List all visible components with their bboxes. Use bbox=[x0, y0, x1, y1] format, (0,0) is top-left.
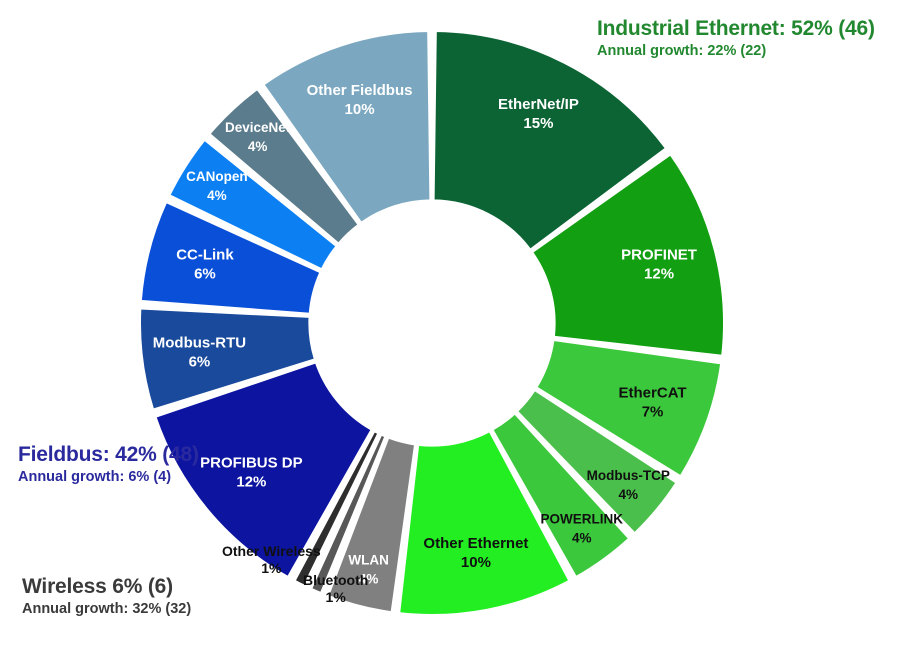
group-note-wireless: Wireless 6% (6) Annual growth: 32% (32) bbox=[22, 575, 191, 617]
group-growth-wireless: Annual growth: 32% (32) bbox=[22, 601, 191, 617]
group-note-fieldbus: Fieldbus: 42% (48) Annual growth: 6% (4) bbox=[18, 443, 199, 485]
group-growth-industrial-ethernet: Annual growth: 22% (22) bbox=[597, 43, 875, 59]
slice-value-other-wireless: 1% bbox=[261, 560, 281, 576]
donut-slices bbox=[140, 31, 724, 615]
slice-value-bluetooth: 1% bbox=[326, 589, 346, 605]
slice-label-bluetooth: Bluetooth 1% bbox=[303, 572, 368, 605]
donut-chart: EtherNet/IP15%PROFINET12%EtherCAT7%Modbu… bbox=[0, 0, 900, 650]
group-title-industrial-ethernet: Industrial Ethernet: 52% (46) bbox=[597, 17, 875, 41]
group-title-fieldbus: Fieldbus: 42% (48) bbox=[18, 443, 199, 467]
group-growth-fieldbus: Annual growth: 6% (4) bbox=[18, 469, 199, 485]
slice-name-bluetooth: Bluetooth bbox=[303, 572, 368, 588]
donut-svg: EtherNet/IP15%PROFINET12%EtherCAT7%Modbu… bbox=[0, 0, 900, 650]
group-note-industrial-ethernet: Industrial Ethernet: 52% (46) Annual gro… bbox=[597, 17, 875, 59]
group-title-wireless: Wireless 6% (6) bbox=[22, 575, 191, 599]
slice-name-other-wireless: Other Wireless bbox=[222, 543, 321, 559]
